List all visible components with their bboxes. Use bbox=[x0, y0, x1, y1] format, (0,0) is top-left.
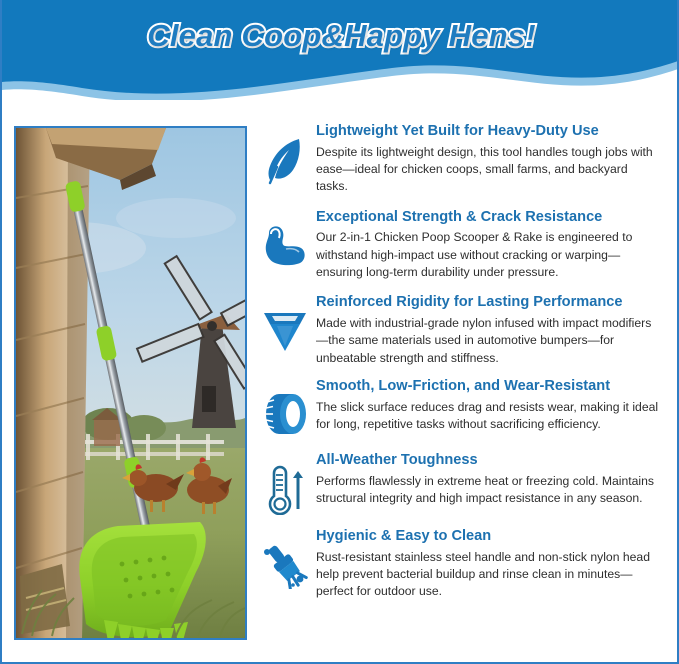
feature-icon-slot bbox=[254, 208, 316, 268]
feature-title: Exceptional Strength & Crack Resistance bbox=[316, 208, 661, 228]
feature-text: All-Weather Toughness Performs flawlessl… bbox=[316, 451, 667, 507]
feature-description: The slick surface reduces drag and resis… bbox=[316, 399, 661, 434]
cleaning-brush-icon bbox=[260, 541, 310, 589]
feature-title: All-Weather Toughness bbox=[316, 451, 661, 471]
feature-text: Hygienic & Easy to Clean Rust-resistant … bbox=[316, 527, 667, 601]
feature-text: Smooth, Low-Friction, and Wear-Resistant… bbox=[316, 377, 667, 433]
feature-item: Exceptional Strength & Crack Resistance … bbox=[254, 208, 667, 282]
diamond-icon bbox=[260, 307, 310, 353]
feature-list: Lightweight Yet Built for Heavy-Duty Use… bbox=[254, 100, 677, 662]
feature-description: Rust-resistant stainless steel handle an… bbox=[316, 549, 661, 601]
feature-description: Made with industrial-grade nylon infused… bbox=[316, 315, 661, 367]
product-photo-frame bbox=[14, 126, 247, 640]
page-title: Clean Coop&Happy Hens! bbox=[2, 0, 679, 72]
feature-text: Exceptional Strength & Crack Resistance … bbox=[316, 208, 667, 282]
product-feature-page: Clean Coop&Happy Hens! bbox=[0, 0, 679, 664]
feature-item: Reinforced Rigidity for Lasting Performa… bbox=[254, 293, 667, 367]
tire-icon bbox=[261, 391, 309, 437]
product-photo bbox=[16, 128, 245, 638]
flexed-bicep-icon bbox=[262, 222, 308, 268]
feature-item: Lightweight Yet Built for Heavy-Duty Use… bbox=[254, 122, 667, 196]
feature-icon-slot bbox=[254, 377, 316, 437]
feather-icon bbox=[263, 136, 307, 186]
feature-icon-slot bbox=[254, 122, 316, 186]
feature-icon-slot bbox=[254, 293, 316, 353]
feature-icon-slot bbox=[254, 527, 316, 589]
content-area: Lightweight Yet Built for Heavy-Duty Use… bbox=[2, 100, 677, 662]
thermometer-icon bbox=[262, 465, 308, 515]
feature-text: Lightweight Yet Built for Heavy-Duty Use… bbox=[316, 122, 667, 196]
feature-item: All-Weather Toughness Performs flawlessl… bbox=[254, 451, 667, 515]
feature-text: Reinforced Rigidity for Lasting Performa… bbox=[316, 293, 667, 367]
feature-description: Performs flawlessly in extreme heat or f… bbox=[316, 473, 661, 508]
feature-title: Hygienic & Easy to Clean bbox=[316, 527, 661, 547]
feature-title: Reinforced Rigidity for Lasting Performa… bbox=[316, 293, 661, 313]
feature-item: Smooth, Low-Friction, and Wear-Resistant… bbox=[254, 377, 667, 437]
header-banner: Clean Coop&Happy Hens! bbox=[2, 0, 679, 100]
feature-icon-slot bbox=[254, 451, 316, 515]
feature-item: Hygienic & Easy to Clean Rust-resistant … bbox=[254, 527, 667, 601]
feature-title: Lightweight Yet Built for Heavy-Duty Use bbox=[316, 122, 661, 142]
feature-description: Despite its lightweight design, this too… bbox=[316, 144, 661, 196]
feature-title: Smooth, Low-Friction, and Wear-Resistant bbox=[316, 377, 661, 397]
feature-description: Our 2-in-1 Chicken Poop Scooper & Rake i… bbox=[316, 229, 661, 281]
product-photo-column bbox=[2, 100, 254, 662]
